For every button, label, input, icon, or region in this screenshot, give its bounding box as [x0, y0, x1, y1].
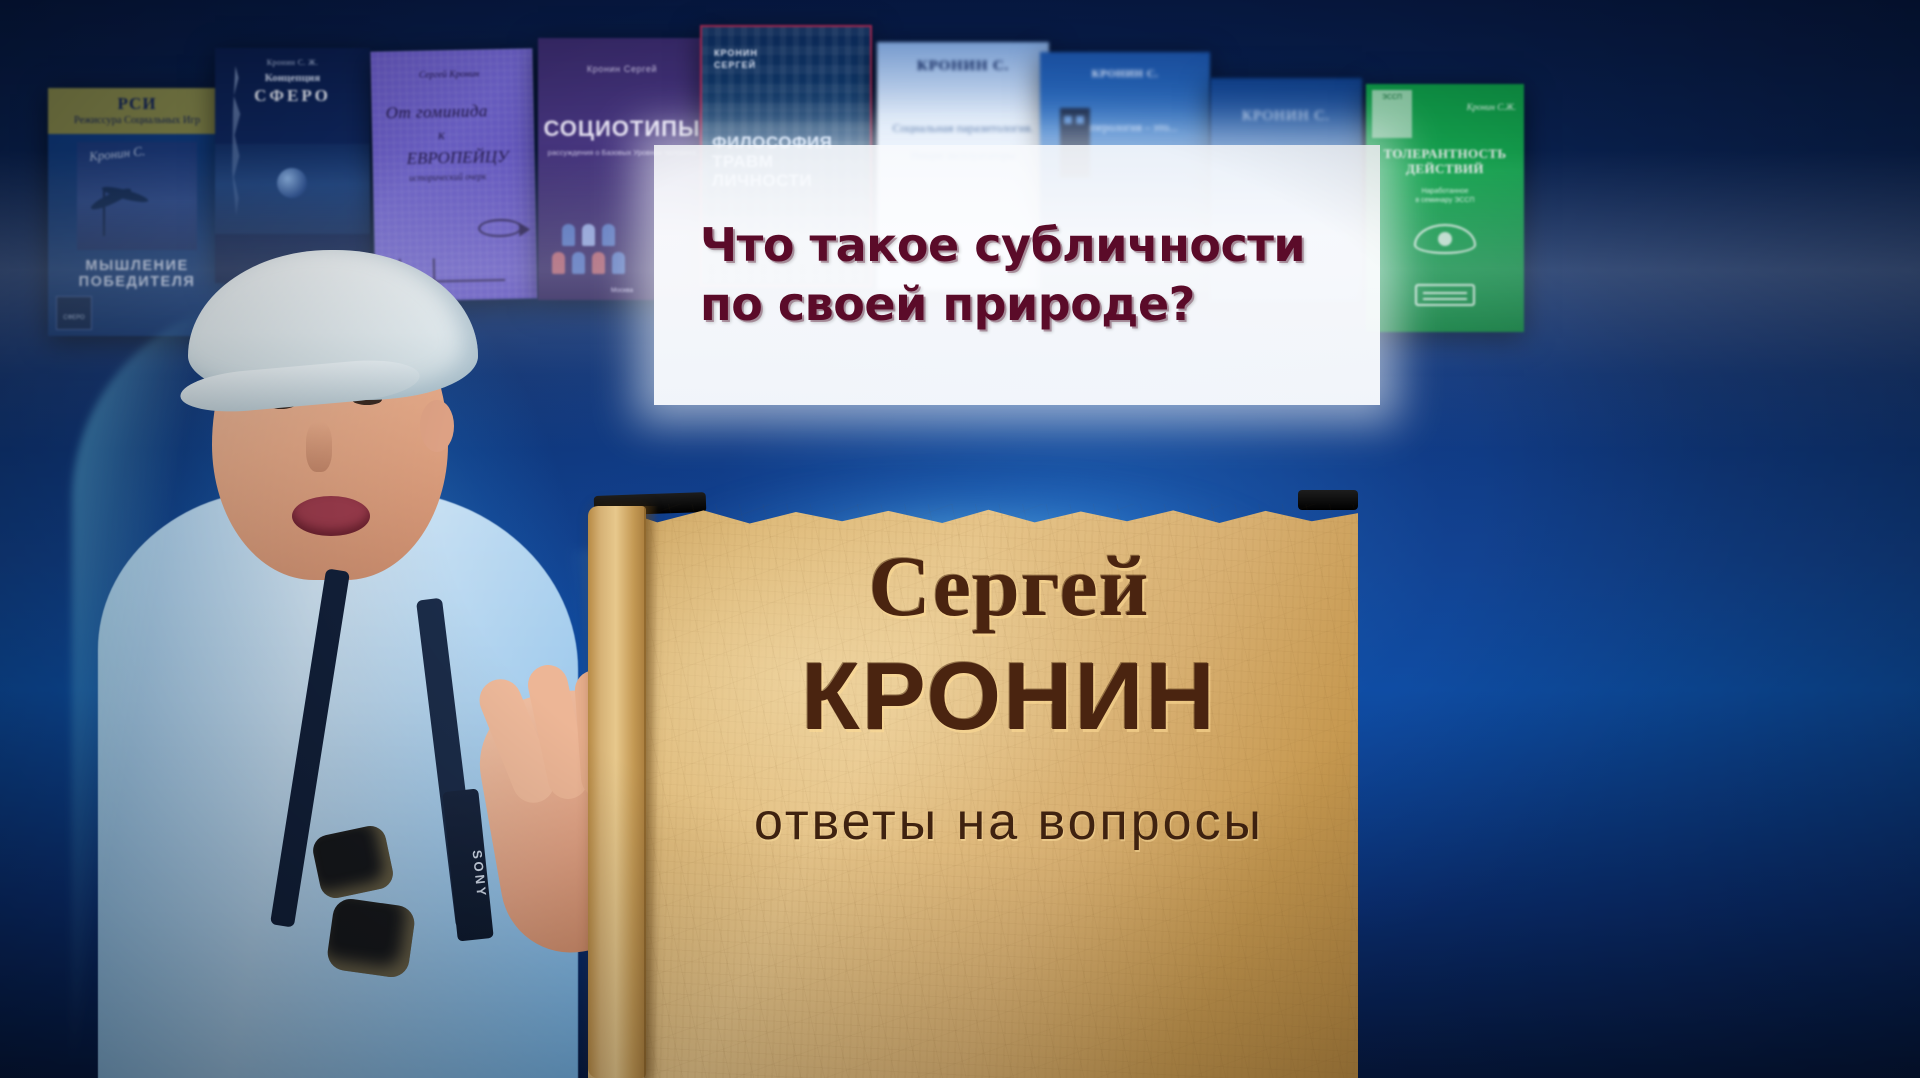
vignette — [0, 0, 1920, 1078]
video-thumbnail: РСИ Режиссура Социальных Игр Кронин С. М… — [0, 0, 1920, 1078]
